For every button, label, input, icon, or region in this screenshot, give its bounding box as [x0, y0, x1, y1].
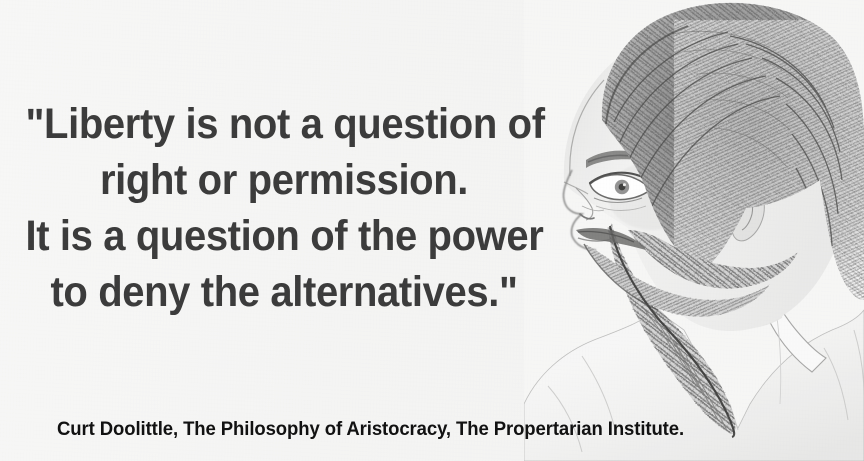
quote-text-block: "Liberty is not a question of right or p…: [6, 96, 562, 320]
quote-graphic-canvas: "Liberty is not a question of right or p…: [0, 0, 864, 461]
quote-line-1: "Liberty is not a question of: [25, 96, 542, 152]
attribution-text: Curt Doolittle, The Philosophy of Aristo…: [57, 418, 684, 441]
quote-line-3: It is a question of the power: [25, 208, 542, 264]
quote-line-4: to deny the alternatives.": [25, 264, 542, 320]
portrait-illustration: [524, 0, 864, 461]
quote-line-2: right or permission.: [25, 152, 542, 208]
